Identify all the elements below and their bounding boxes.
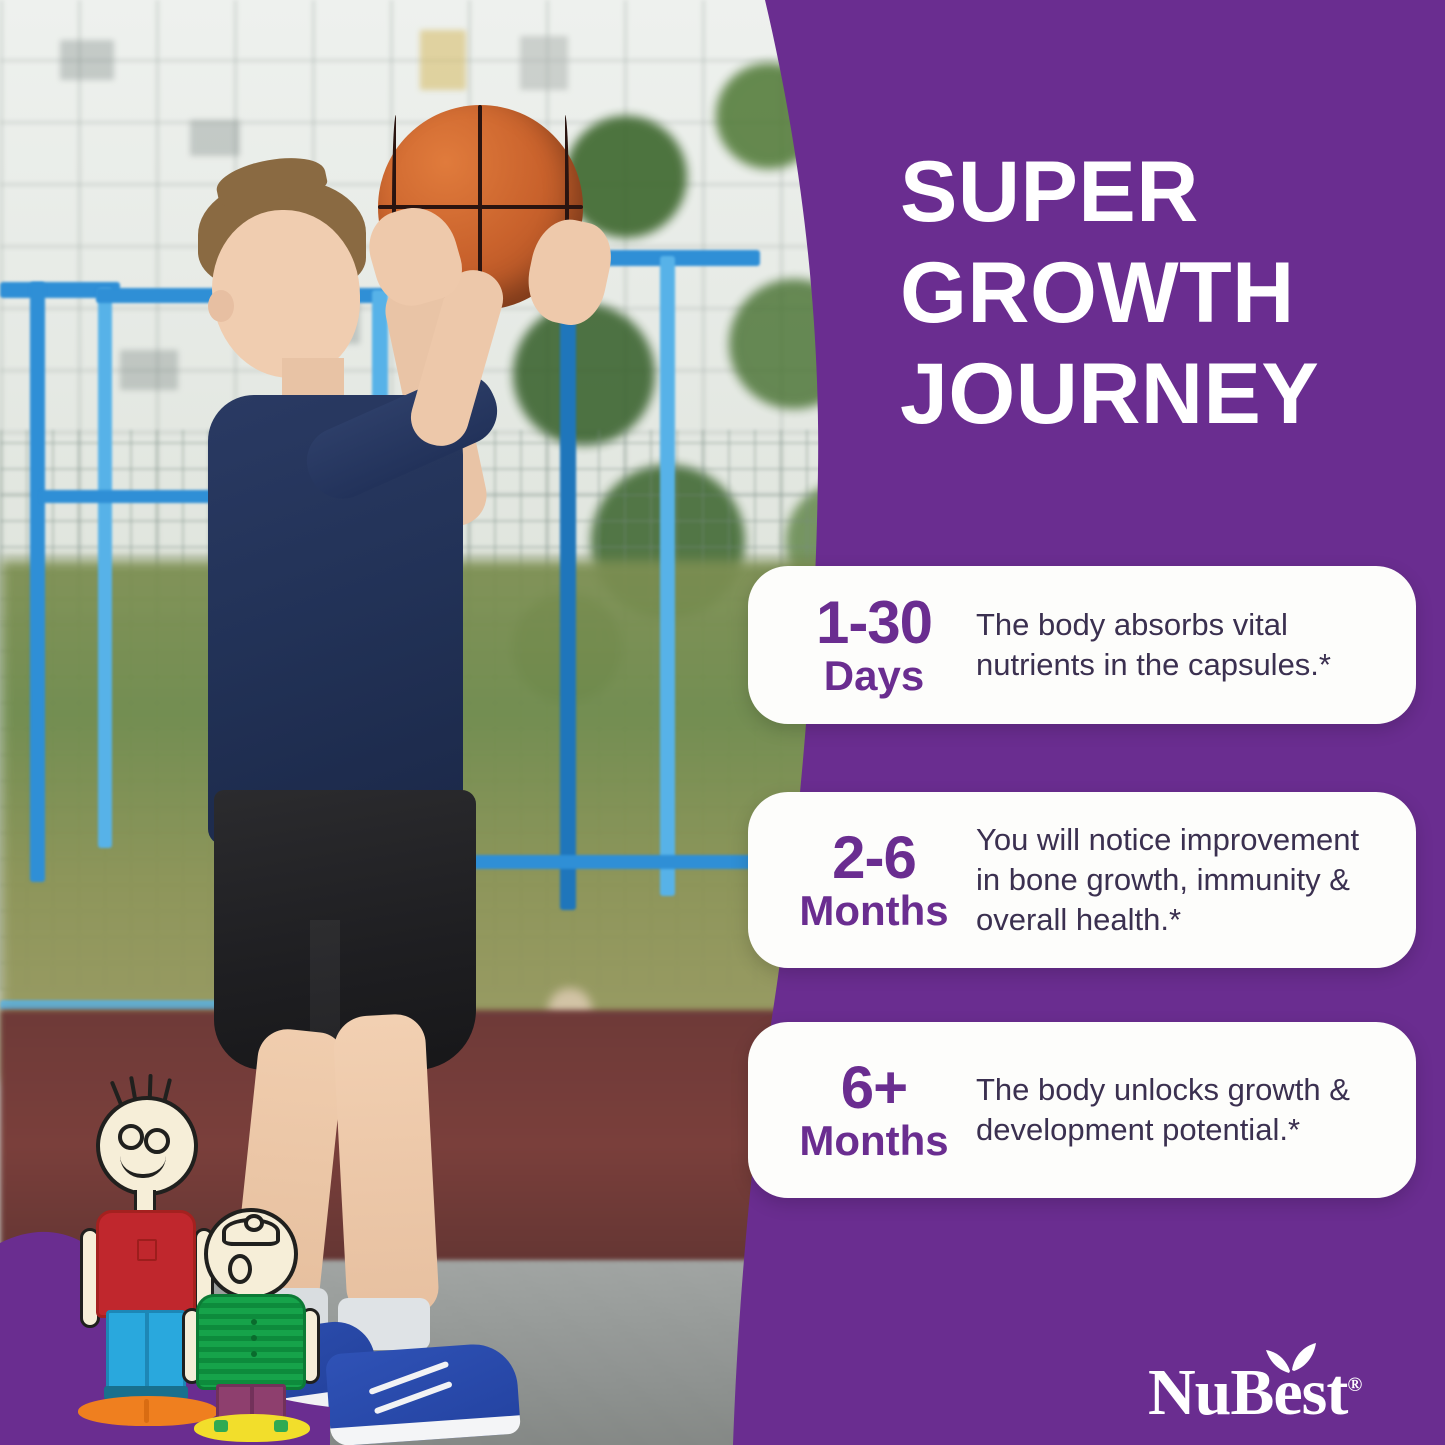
- cartoon-pants: [106, 1310, 186, 1396]
- timeline-card-term: 6+ Months: [778, 1057, 970, 1163]
- timeline-term-range: 6+: [778, 1057, 970, 1118]
- timeline-term-unit: Months: [778, 1120, 970, 1163]
- cartoon-shirt: [96, 1210, 196, 1318]
- nubest-logo: NuBest®: [1148, 1352, 1362, 1426]
- player-head: [212, 210, 360, 378]
- timeline-card: 2-6 Months You will notice improvement i…: [748, 792, 1416, 968]
- timeline-card-description: The body unlocks growth & development po…: [970, 1070, 1390, 1150]
- timeline-card-term: 1-30 Days: [778, 592, 970, 698]
- timeline-term-range: 2-6: [778, 827, 970, 888]
- cartoon-eyes: [118, 1124, 176, 1154]
- growth-journey-infographic: SUPER GROWTH JOURNEY 1-30 Days The body …: [0, 0, 1445, 1445]
- timeline-card: 6+ Months The body unlocks growth & deve…: [748, 1022, 1416, 1198]
- registered-trademark-icon: ®: [1347, 1374, 1362, 1396]
- cartoon-shirt: [196, 1294, 306, 1390]
- cartoon-mouth: [228, 1254, 252, 1284]
- cartoon-shoes: [194, 1414, 310, 1442]
- title-line-3: JOURNEY: [900, 346, 1319, 442]
- player-sneaker: [325, 1341, 521, 1445]
- short-cartoon-kid: [182, 1208, 318, 1426]
- page-title: SUPER GROWTH JOURNEY: [900, 142, 1380, 445]
- player-leg: [332, 1013, 440, 1317]
- playground-bar: [30, 282, 45, 882]
- timeline-card-term: 2-6 Months: [778, 827, 970, 933]
- cartoon-hair: [222, 1218, 280, 1246]
- title-line-1: SUPER: [900, 144, 1199, 240]
- timeline-card-description: You will notice improvement in bone grow…: [970, 820, 1390, 940]
- title-line-2: GROWTH: [900, 245, 1295, 341]
- player-ear: [208, 290, 234, 322]
- timeline-term-range: 1-30: [778, 592, 970, 653]
- timeline-card: 1-30 Days The body absorbs vital nutrien…: [748, 566, 1416, 724]
- playground-bar: [98, 288, 112, 848]
- timeline-term-unit: Days: [778, 655, 970, 698]
- timeline-term-unit: Months: [778, 890, 970, 933]
- timeline-card-description: The body absorbs vital nutrients in the …: [970, 605, 1390, 685]
- leaf-icon: [1264, 1340, 1318, 1374]
